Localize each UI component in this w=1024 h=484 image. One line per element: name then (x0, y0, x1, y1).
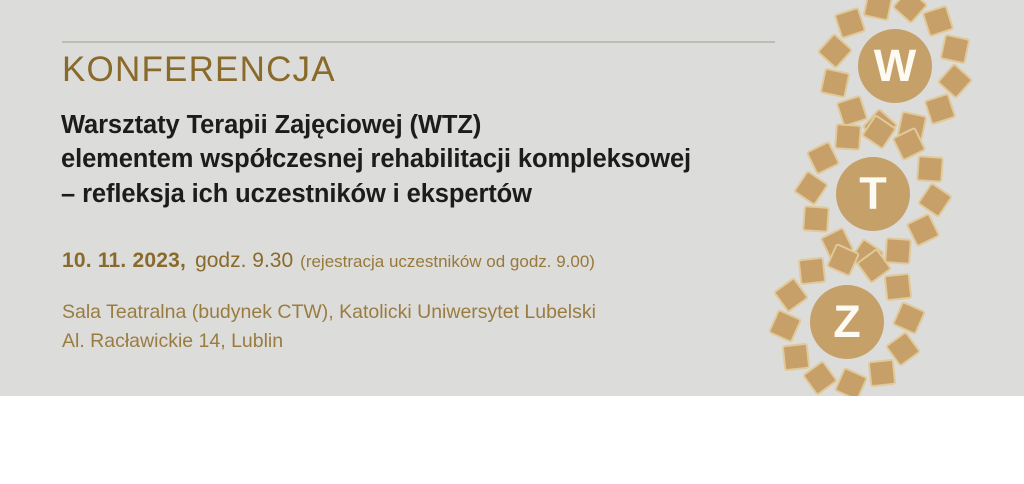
wtz-letter-z: Z (833, 296, 861, 348)
wtz-petal (793, 169, 829, 205)
wtz-petal (862, 0, 893, 22)
wtz-petal (820, 68, 851, 99)
wtz-petal (816, 33, 853, 70)
wtz-flower-z: Z (767, 242, 927, 396)
conference-poster: KONFERENCJA Warsztaty Terapii Zajęciowej… (0, 0, 1024, 484)
title-line-3: – refleksja ich uczestników i ekspertów (61, 177, 821, 211)
wtz-hub-z: Z (810, 285, 884, 359)
wtz-petal (867, 359, 896, 388)
wtz-petal (802, 205, 830, 233)
wtz-petal (916, 155, 944, 183)
event-dateline: 10. 11. 2023,godz. 9.30(rejestracja ucze… (62, 249, 595, 273)
venue-line-2: Al. Racławickie 14, Lublin (62, 327, 596, 356)
wtz-petal (861, 114, 897, 150)
page-title: Warsztaty Terapii Zajęciowej (WTZ) eleme… (61, 108, 821, 211)
wtz-petal (892, 301, 926, 335)
title-line-2: elementem współczesnej rehabilitacji kom… (61, 142, 821, 176)
wtz-petal (922, 5, 955, 38)
wtz-flower-logo: W T Z (775, 0, 1024, 396)
kicker-label: KONFERENCJA (62, 51, 336, 90)
event-venue: Sala Teatralna (budynek CTW), Katolicki … (62, 298, 596, 356)
wtz-letter-w: W (874, 40, 916, 92)
header-divider-rule (62, 41, 775, 43)
wtz-letter-t: T (859, 168, 887, 220)
poster-banner: KONFERENCJA Warsztaty Terapii Zajęciowej… (0, 0, 1024, 396)
venue-line-1: Sala Teatralna (budynek CTW), Katolicki … (62, 298, 596, 327)
wtz-petal (781, 342, 810, 371)
wtz-petal (884, 273, 913, 302)
wtz-petal (834, 367, 868, 396)
wtz-hub-w: W (858, 29, 932, 103)
wtz-petal (826, 243, 860, 277)
wtz-petal (834, 7, 867, 40)
wtz-hub-t: T (836, 157, 910, 231)
wtz-petal (834, 123, 862, 151)
wtz-petal (917, 182, 953, 218)
wtz-petal (768, 309, 802, 343)
wtz-petal (939, 33, 970, 64)
event-date: 10. 11. 2023, (62, 249, 186, 272)
sponsor-footer: teatro terapia (0, 396, 1024, 484)
event-time: godz. 9.30 (195, 249, 293, 272)
wtz-petal (798, 256, 827, 285)
title-line-1: Warsztaty Terapii Zajęciowej (WTZ) (61, 108, 821, 142)
registration-note: (rejestracja uczestników od godz. 9.00) (300, 252, 595, 271)
